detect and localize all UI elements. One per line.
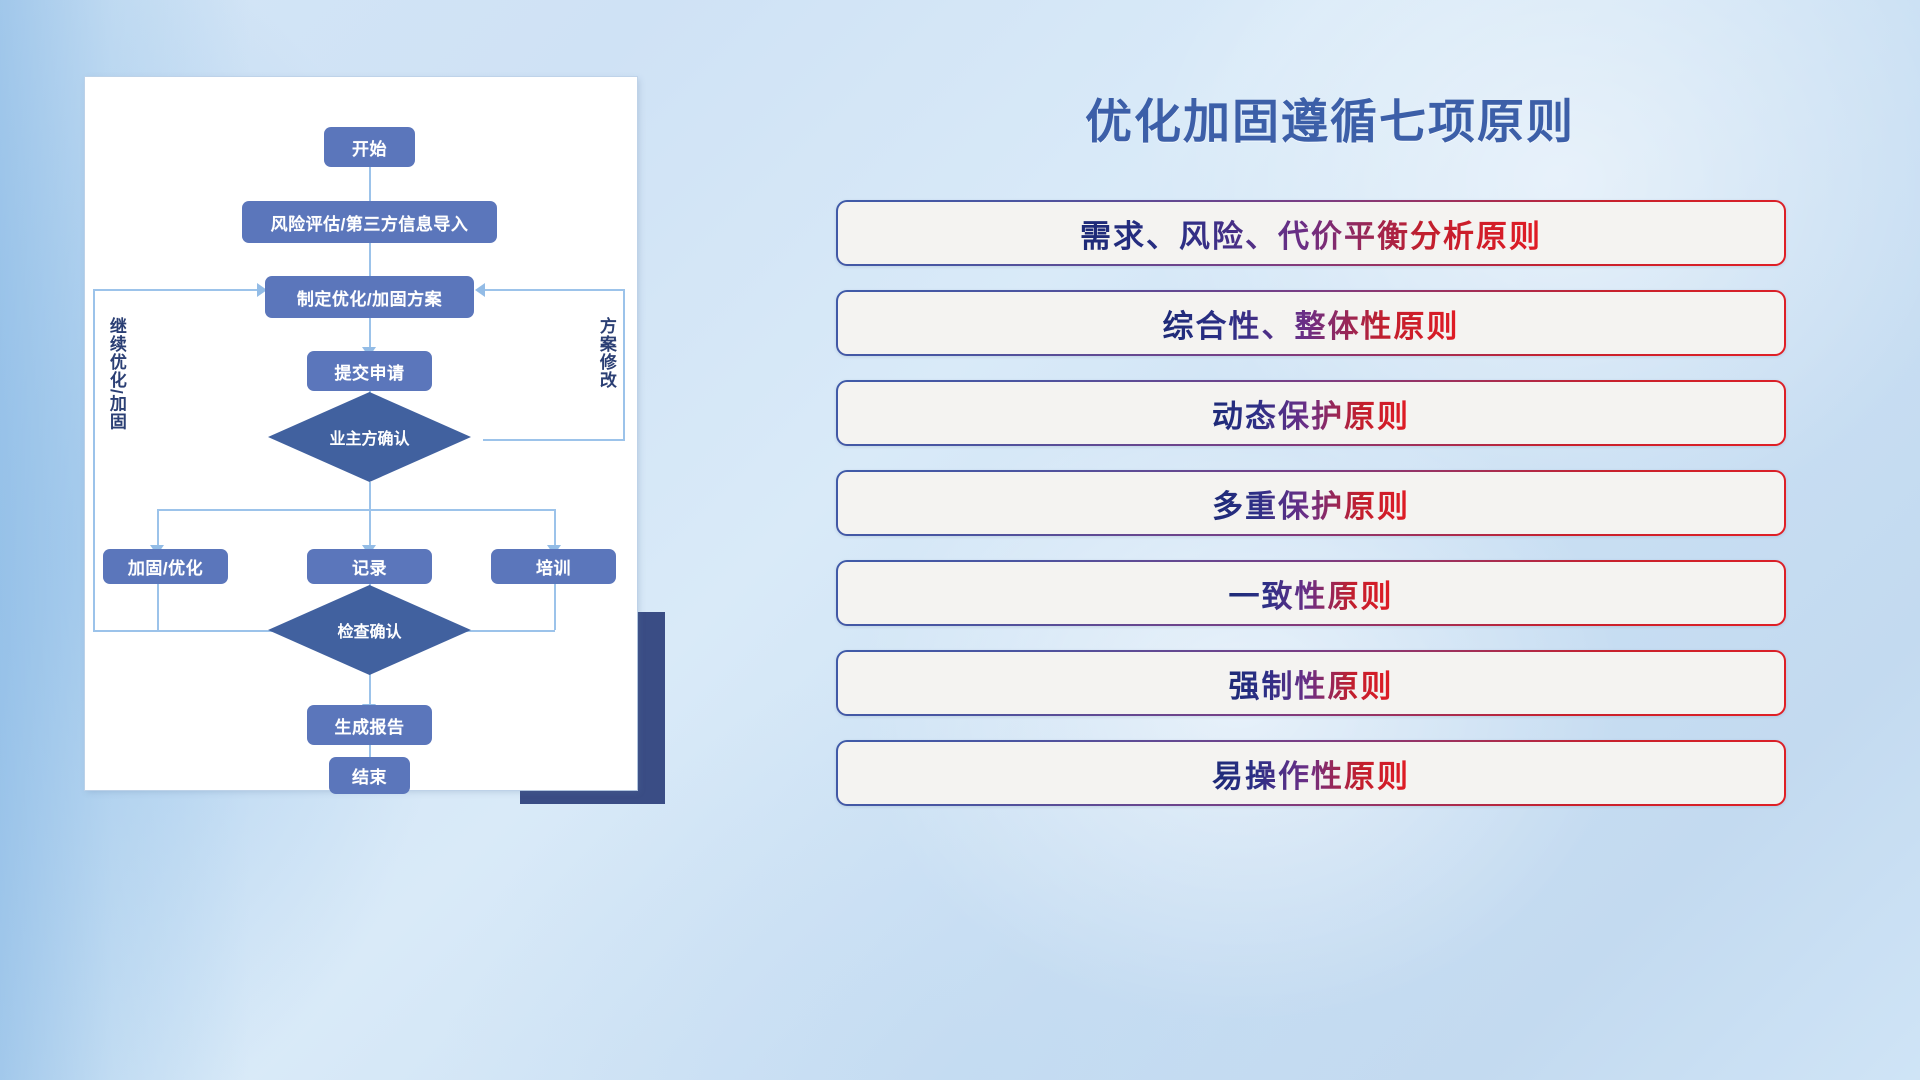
principle-card-6[interactable]: 强制性原则 — [836, 650, 1786, 716]
principle-card-5[interactable]: 一致性原则 — [836, 560, 1786, 626]
principle-card-label: 一致性原则 — [1229, 571, 1394, 616]
flow-node-risk-assessment[interactable]: 风险评估/第三方信息导入 — [242, 201, 497, 243]
connector-reinforce-down — [157, 584, 159, 630]
flow-node-plan[interactable]: 制定优化/加固方案 — [265, 276, 474, 318]
flow-node-end[interactable]: 结束 — [329, 757, 410, 794]
principle-card-label: 综合性、整体性原则 — [1163, 301, 1460, 346]
principle-card-3[interactable]: 动态保护原则 — [836, 380, 1786, 446]
principles-title: 优化加固遵循七项原则 — [790, 83, 1870, 152]
principle-card-4[interactable]: 多重保护原则 — [836, 470, 1786, 536]
principle-card-label: 多重保护原则 — [1212, 481, 1410, 526]
connector-training-down — [554, 584, 556, 630]
arrow-right-loop-into-plan — [475, 283, 485, 297]
flowchart-panel: 开始 风险评估/第三方信息导入 制定优化/加固方案 提交申请 业主方确认 加固/… — [85, 77, 637, 790]
flowchart-canvas: 开始 风险评估/第三方信息导入 制定优化/加固方案 提交申请 业主方确认 加固/… — [85, 77, 637, 790]
principle-card-label: 易操作性原则 — [1212, 751, 1410, 796]
principle-card-1[interactable]: 需求、风险、代价平衡分析原则 — [836, 200, 1786, 266]
connector-branch-bus — [157, 509, 555, 511]
flow-node-training[interactable]: 培训 — [491, 549, 616, 584]
connector-start-to-risk — [369, 167, 371, 205]
flow-node-start[interactable]: 开始 — [324, 127, 415, 167]
connector-right-loop-bottom — [483, 439, 625, 441]
slide-canvas: 开始 风险评估/第三方信息导入 制定优化/加固方案 提交申请 业主方确认 加固/… — [0, 0, 1920, 1080]
principle-card-7[interactable]: 易操作性原则 — [836, 740, 1786, 806]
principle-card-label: 需求、风险、代价平衡分析原则 — [1080, 211, 1542, 256]
connector-left-loop-top — [93, 289, 259, 291]
flow-node-owner-confirm[interactable]: 业主方确认 — [268, 392, 471, 482]
principle-card-label: 强制性原则 — [1229, 661, 1394, 706]
flow-node-record[interactable]: 记录 — [307, 549, 432, 584]
principle-card-label: 动态保护原则 — [1212, 391, 1410, 436]
principle-card-2[interactable]: 综合性、整体性原则 — [836, 290, 1786, 356]
flow-node-submit[interactable]: 提交申请 — [307, 351, 432, 391]
connector-risk-to-plan — [369, 242, 371, 280]
flow-node-check-confirm[interactable]: 检查确认 — [268, 585, 471, 675]
connector-right-loop-top — [485, 289, 625, 291]
edge-label-continue-optimize: 继续优化/加固 — [107, 317, 125, 431]
edge-label-plan-revision: 方案修改 — [597, 317, 615, 389]
principles-panel: 优化加固遵循七项原则 需求、风险、代价平衡分析原则 综合性、整体性原则 动态保护… — [790, 60, 1870, 1020]
flow-node-reinforce[interactable]: 加固/优化 — [103, 549, 228, 584]
principles-card-list: 需求、风险、代价平衡分析原则 综合性、整体性原则 动态保护原则 多重保护原则 一… — [836, 200, 1786, 830]
connector-left-loop-vertical — [93, 289, 95, 631]
flow-node-generate-report[interactable]: 生成报告 — [307, 705, 432, 745]
connector-right-loop-vertical — [623, 289, 625, 440]
